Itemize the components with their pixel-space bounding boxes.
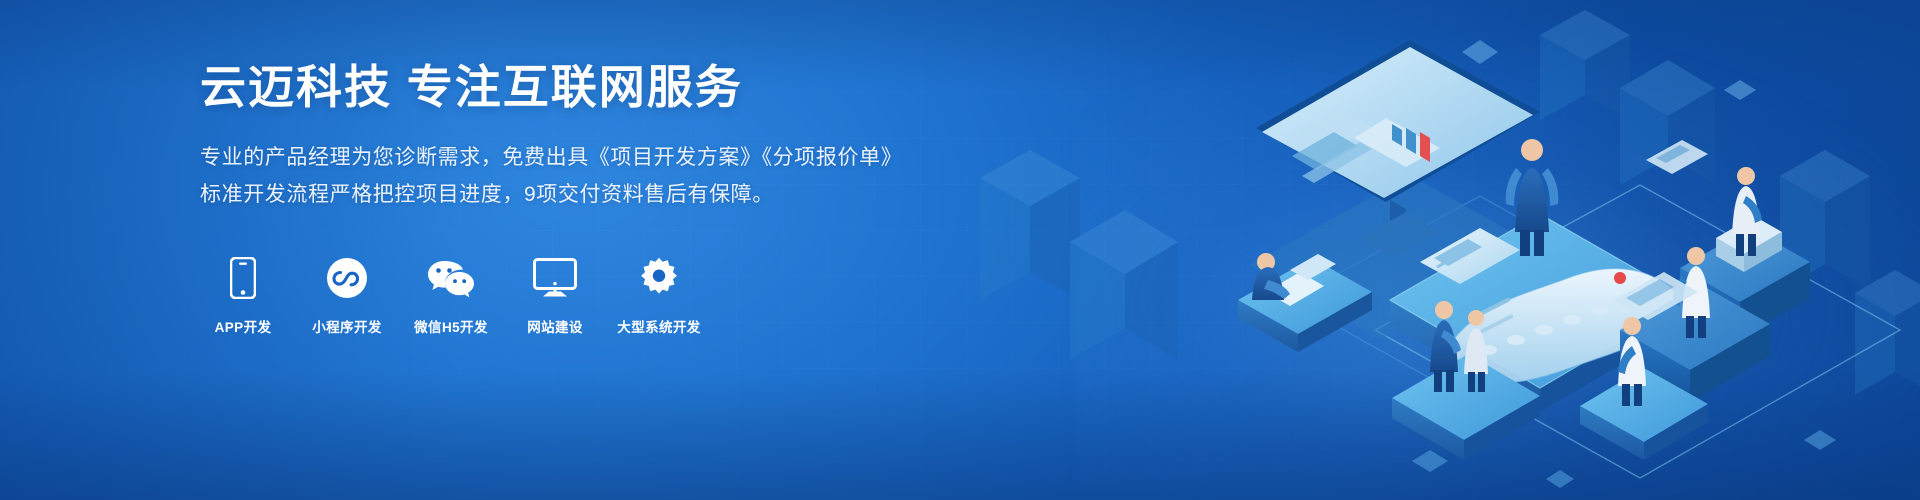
service-label-website: 网站建设	[527, 316, 583, 336]
hero-banner: 云迈科技 专注互联网服务 专业的产品经理为您诊断需求，免费出具《项目开发方案》《…	[0, 0, 1920, 500]
service-list: APP开发 小程序开发	[200, 256, 960, 336]
service-item-app[interactable]: APP开发	[200, 256, 286, 336]
service-item-wechat-h5[interactable]: 微信H5开发	[408, 256, 494, 336]
service-label-wechat-h5: 微信H5开发	[414, 316, 488, 336]
banner-content: 云迈科技 专注互联网服务 专业的产品经理为您诊断需求，免费出具《项目开发方案》《…	[200, 60, 960, 336]
banner-headline: 云迈科技 专注互联网服务	[200, 60, 960, 114]
service-item-website[interactable]: 网站建设	[512, 256, 598, 336]
wechat-icon	[427, 256, 475, 300]
service-item-mini-program[interactable]: 小程序开发	[304, 256, 390, 336]
banner-subtitle-line-1: 专业的产品经理为您诊断需求，免费出具《项目开发方案》《分项报价单》	[200, 140, 960, 177]
mini-program-icon	[326, 256, 368, 300]
mobile-phone-icon	[230, 256, 256, 300]
monitor-icon	[533, 256, 577, 300]
service-label-large-system: 大型系统开发	[617, 316, 700, 336]
gear-icon	[638, 256, 680, 300]
service-label-mini-program: 小程序开发	[312, 316, 382, 336]
service-item-large-system[interactable]: 大型系统开发	[616, 256, 702, 336]
service-label-app: APP开发	[215, 316, 272, 336]
isometric-illustration	[920, 0, 1920, 500]
banner-subtitle-line-2: 标准开发流程严格把控项目进度，9项交付资料售后有保障。	[200, 177, 960, 214]
